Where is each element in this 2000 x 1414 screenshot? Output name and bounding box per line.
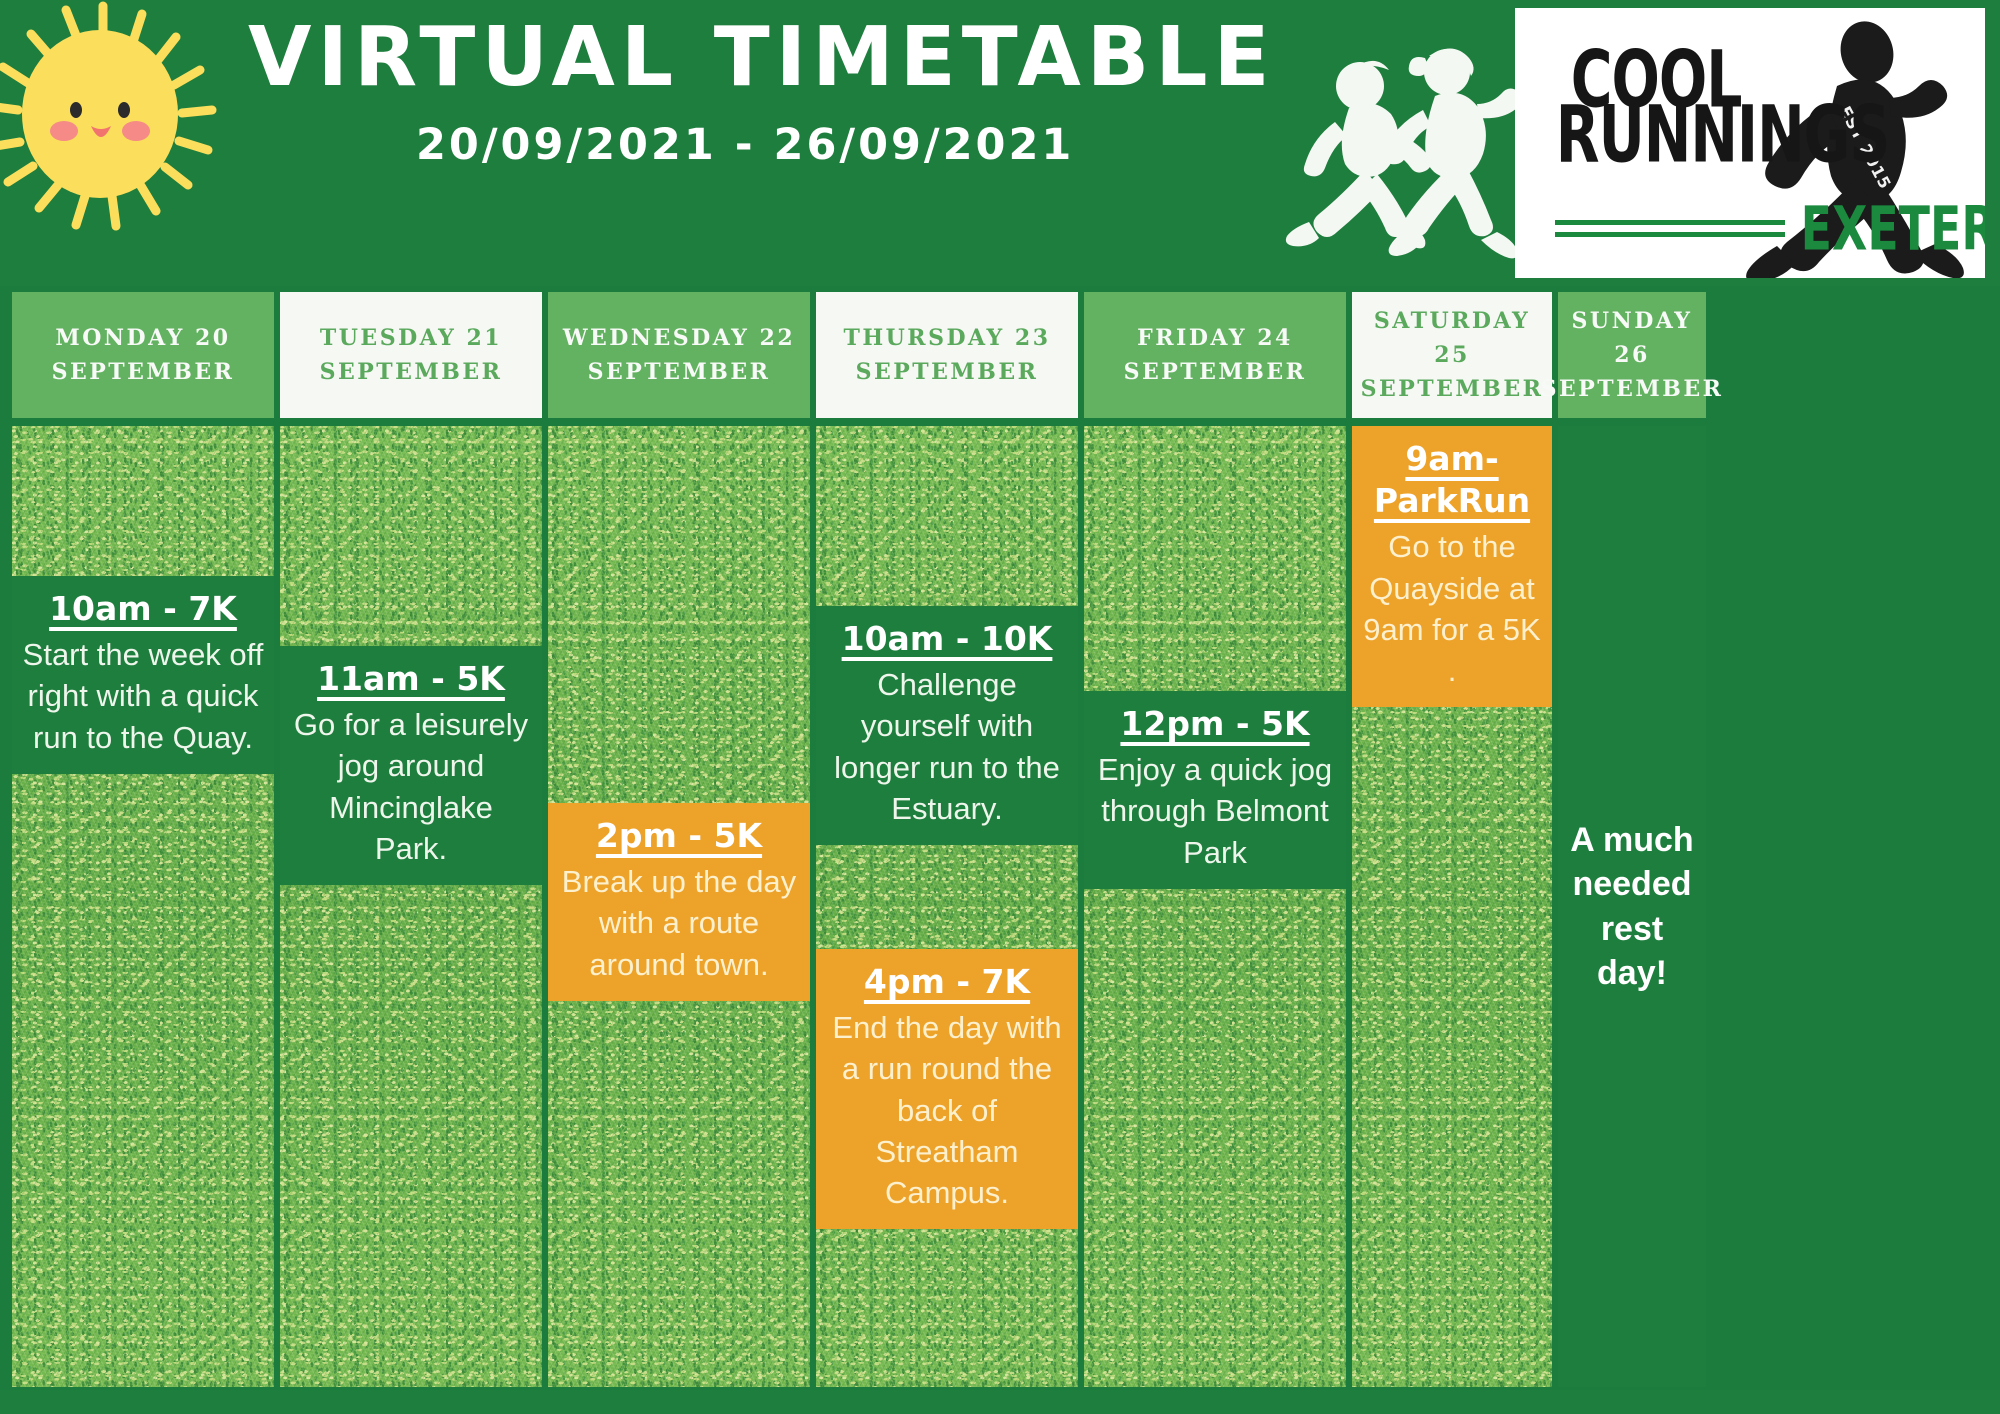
day-column-tuesday: TUESDAY 21 SEPTEMBER 11am - 5K Go for a … <box>280 292 542 1387</box>
rest-day-card[interactable]: A much needed rest day! <box>1558 426 1706 1387</box>
day-column-thursday: THURSDAY 23 SEPTEMBER 10am - 10K Challen… <box>816 292 1078 1387</box>
event-card[interactable]: 12pm - 5K Enjoy a quick jog through Belm… <box>1084 691 1346 889</box>
day-name: FRIDAY 24 <box>1137 321 1293 355</box>
day-column-wednesday: WEDNESDAY 22 SEPTEMBER 2pm - 5K Break up… <box>548 292 810 1387</box>
svg-text:EXETER: EXETER <box>1801 194 1985 265</box>
day-name: THURSDAY 23 <box>843 321 1050 355</box>
day-body-wednesday: 2pm - 5K Break up the day with a route a… <box>548 426 810 1387</box>
day-month: SEPTEMBER <box>1124 355 1307 389</box>
event-description: Challenge yourself with longer run to th… <box>826 664 1068 829</box>
event-time: 10am - 10K <box>826 618 1068 660</box>
day-column-friday: FRIDAY 24 SEPTEMBER 12pm - 5K Enjoy a qu… <box>1084 292 1346 1387</box>
day-column-saturday: SATURDAY 25 SEPTEMBER 9am-ParkRun Go to … <box>1352 292 1552 1387</box>
page-title: VIRTUAL TIMETABLE <box>248 12 1298 104</box>
day-header-monday: MONDAY 20 SEPTEMBER <box>12 292 274 418</box>
grass-texture <box>12 426 274 1387</box>
cool-runnings-logo: EST 2015 COOL RUNNINGS EXETER <box>1515 8 1985 278</box>
event-time: 4pm - 7K <box>826 961 1068 1003</box>
day-header-saturday: SATURDAY 25 SEPTEMBER <box>1352 292 1552 418</box>
day-month: SEPTEMBER <box>856 355 1039 389</box>
runners-icon <box>1265 14 1515 274</box>
day-body-sunday: A much needed rest day! <box>1558 426 1706 1387</box>
calendar-grid: MONDAY 20 SEPTEMBER 10am - 7K Start the … <box>12 292 1988 1387</box>
day-body-monday: 10am - 7K Start the week off right with … <box>12 426 274 1387</box>
day-name: WEDNESDAY 22 <box>563 321 795 355</box>
rest-day-text: A much needed rest day! <box>1566 818 1698 995</box>
day-column-monday: MONDAY 20 SEPTEMBER 10am - 7K Start the … <box>12 292 274 1387</box>
date-range: 20/09/2021 - 26/09/2021 <box>416 120 1298 170</box>
title-block: VIRTUAL TIMETABLE 20/09/2021 - 26/09/202… <box>248 12 1298 170</box>
day-month: SEPTEMBER <box>320 355 503 389</box>
sun-icon <box>0 0 228 242</box>
virtual-timetable-poster: VIRTUAL TIMETABLE 20/09/2021 - 26/09/202… <box>0 0 2000 1414</box>
logo-svg: EST 2015 COOL RUNNINGS EXETER <box>1515 8 1985 278</box>
event-card[interactable]: 2pm - 5K Break up the day with a route a… <box>548 803 810 1001</box>
day-month: SEPTEMBER <box>1541 372 1724 406</box>
day-month: SEPTEMBER <box>588 355 771 389</box>
day-body-friday: 12pm - 5K Enjoy a quick jog through Belm… <box>1084 426 1346 1387</box>
event-time: 9am-ParkRun <box>1362 438 1542 522</box>
day-body-saturday: 9am-ParkRun Go to the Quayside at 9am fo… <box>1352 426 1552 1387</box>
day-header-wednesday: WEDNESDAY 22 SEPTEMBER <box>548 292 810 418</box>
event-card[interactable]: 11am - 5K Go for a leisurely jog around … <box>280 646 542 885</box>
event-time: 12pm - 5K <box>1094 703 1336 745</box>
day-month: SEPTEMBER <box>52 355 235 389</box>
event-card[interactable]: 9am-ParkRun Go to the Quayside at 9am fo… <box>1352 426 1552 707</box>
day-name: MONDAY 20 <box>55 321 230 355</box>
day-body-tuesday: 11am - 5K Go for a leisurely jog around … <box>280 426 542 1387</box>
day-header-thursday: THURSDAY 23 SEPTEMBER <box>816 292 1078 418</box>
svg-text:RUNNINGS: RUNNINGS <box>1556 89 1889 180</box>
day-name: SUNDAY 26 <box>1558 304 1706 372</box>
day-header-friday: FRIDAY 24 SEPTEMBER <box>1084 292 1346 418</box>
day-body-thursday: 10am - 10K Challenge yourself with longe… <box>816 426 1078 1387</box>
event-card[interactable]: 10am - 10K Challenge yourself with longe… <box>816 606 1078 845</box>
event-time: 2pm - 5K <box>558 815 800 857</box>
day-header-sunday: SUNDAY 26 SEPTEMBER <box>1558 292 1706 418</box>
day-column-sunday: SUNDAY 26 SEPTEMBER A much needed rest d… <box>1558 292 1706 1387</box>
grass-texture <box>1084 426 1346 1387</box>
grass-texture <box>280 426 542 1387</box>
day-name: TUESDAY 21 <box>320 321 502 355</box>
grass-texture <box>816 426 1078 1387</box>
event-card[interactable]: 4pm - 7K End the day with a run round th… <box>816 949 1078 1229</box>
event-description: Enjoy a quick jog through Belmont Park <box>1094 749 1336 873</box>
event-description: Go to the Quayside at 9am for a 5K . <box>1362 526 1542 691</box>
event-time: 10am - 7K <box>22 588 264 630</box>
day-month: SEPTEMBER <box>1361 372 1544 406</box>
event-description: Go for a leisurely jog around Mincinglak… <box>290 704 532 869</box>
event-description: Break up the day with a route around tow… <box>558 861 800 985</box>
event-description: Start the week off right with a quick ru… <box>22 634 264 758</box>
day-name: SATURDAY 25 <box>1352 304 1552 372</box>
bottom-trim <box>0 1390 2000 1414</box>
event-time: 11am - 5K <box>290 658 532 700</box>
event-card[interactable]: 10am - 7K Start the week off right with … <box>12 576 274 774</box>
day-header-tuesday: TUESDAY 21 SEPTEMBER <box>280 292 542 418</box>
event-description: End the day with a run round the back of… <box>826 1007 1068 1213</box>
